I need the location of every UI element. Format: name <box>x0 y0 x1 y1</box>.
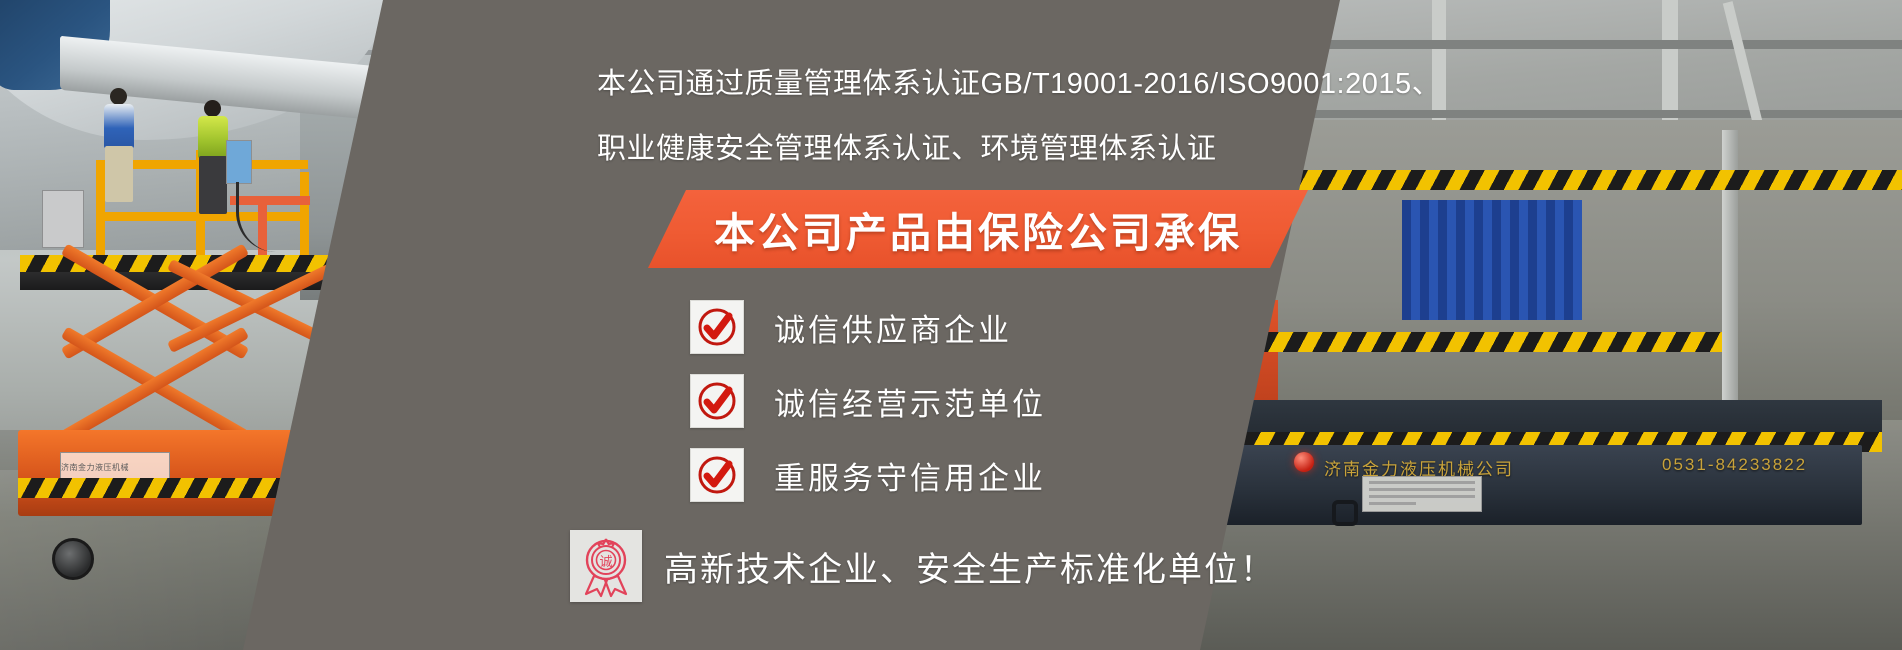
badge-item-label: 高新技术企业、安全生产标准化单位！ <box>664 542 1276 591</box>
list-item: 诚信经营示范单位 <box>690 364 1046 438</box>
insurance-ribbon: 本公司产品由保险公司承保 <box>648 190 1308 268</box>
medal-glyph: 诚 <box>599 554 612 569</box>
check-circle-icon <box>690 374 744 428</box>
award-medal-icon: 诚 <box>570 530 642 602</box>
list-item-label: 诚信经营示范单位 <box>774 379 1046 424</box>
list-item-label: 重服务守信用企业 <box>774 453 1046 498</box>
certification-line-2: 职业健康安全管理体系认证、环境管理体系认证 <box>597 135 1217 164</box>
check-circle-icon <box>690 300 744 354</box>
list-item: 诚信供应商企业 <box>690 290 1046 364</box>
insurance-ribbon-text: 本公司产品由保险公司承保 <box>714 199 1242 259</box>
certification-list: 诚信供应商企业 诚信经营示范单位 重服务守信 <box>690 290 1046 512</box>
list-item-label: 诚信供应商企业 <box>774 305 1012 350</box>
banner-content: 本公司通过质量管理体系认证GB/T19001-2016/ISO9001:2015… <box>0 0 1902 650</box>
badge-list-item: 诚 高新技术企业、安全生产标准化单位！ <box>570 530 1276 602</box>
certification-line-1: 本公司通过质量管理体系认证GB/T19001-2016/ISO9001:2015… <box>597 70 1441 99</box>
check-circle-icon <box>690 448 744 502</box>
promo-banner: 济南金力液压机械 济南金力液压机械公司 0531-84233822 <box>0 0 1902 650</box>
list-item: 重服务守信用企业 <box>690 438 1046 512</box>
